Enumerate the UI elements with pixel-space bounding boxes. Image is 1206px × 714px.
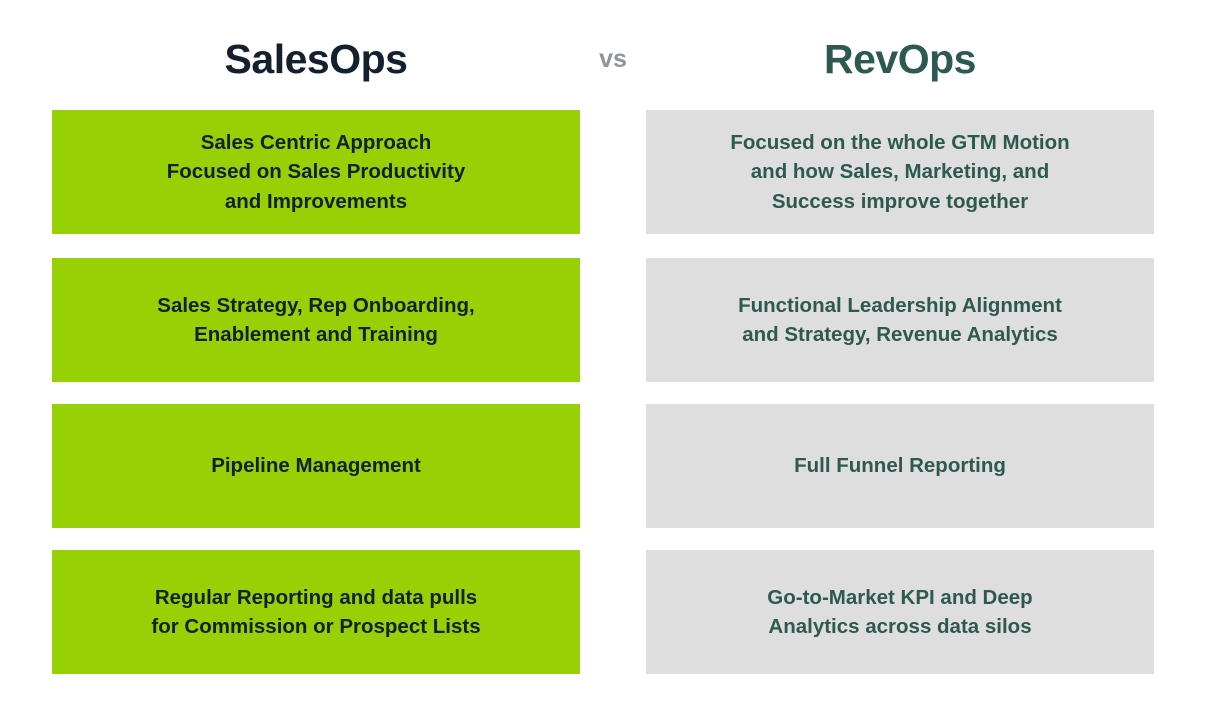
revops-cell: Focused on the whole GTM Motion and how … (646, 110, 1154, 234)
versus-label: vs (580, 28, 646, 90)
comparison-row: Sales Centric Approach Focused on Sales … (0, 110, 1206, 234)
salesops-column-title: SalesOps (52, 28, 580, 90)
revops-cell: Full Funnel Reporting (646, 404, 1154, 528)
revops-cell-text: Go-to-Market KPI and Deep Analytics acro… (660, 583, 1140, 641)
salesops-cell-text: Sales Strategy, Rep Onboarding, Enableme… (66, 291, 566, 349)
revops-cell: Go-to-Market KPI and Deep Analytics acro… (646, 550, 1154, 674)
comparison-infographic: SalesOps vs RevOps Sales Centric Approac… (0, 0, 1206, 714)
salesops-cell: Sales Centric Approach Focused on Sales … (52, 110, 580, 234)
comparison-row: Regular Reporting and data pulls for Com… (0, 550, 1206, 674)
revops-cell-text: Full Funnel Reporting (660, 451, 1140, 480)
revops-cell-text: Functional Leadership Alignment and Stra… (660, 291, 1140, 349)
salesops-cell: Sales Strategy, Rep Onboarding, Enableme… (52, 258, 580, 382)
salesops-cell-text: Pipeline Management (66, 451, 566, 480)
revops-cell-text: Focused on the whole GTM Motion and how … (660, 128, 1140, 215)
revops-cell: Functional Leadership Alignment and Stra… (646, 258, 1154, 382)
revops-column-title: RevOps (646, 28, 1154, 90)
salesops-cell: Pipeline Management (52, 404, 580, 528)
salesops-cell: Regular Reporting and data pulls for Com… (52, 550, 580, 674)
salesops-cell-text: Sales Centric Approach Focused on Sales … (66, 128, 566, 215)
comparison-row: Pipeline Management Full Funnel Reportin… (0, 404, 1206, 528)
comparison-header-row: SalesOps vs RevOps (0, 28, 1206, 90)
comparison-grid: Sales Centric Approach Focused on Sales … (0, 110, 1206, 672)
salesops-cell-text: Regular Reporting and data pulls for Com… (66, 583, 566, 641)
comparison-row: Sales Strategy, Rep Onboarding, Enableme… (0, 258, 1206, 382)
